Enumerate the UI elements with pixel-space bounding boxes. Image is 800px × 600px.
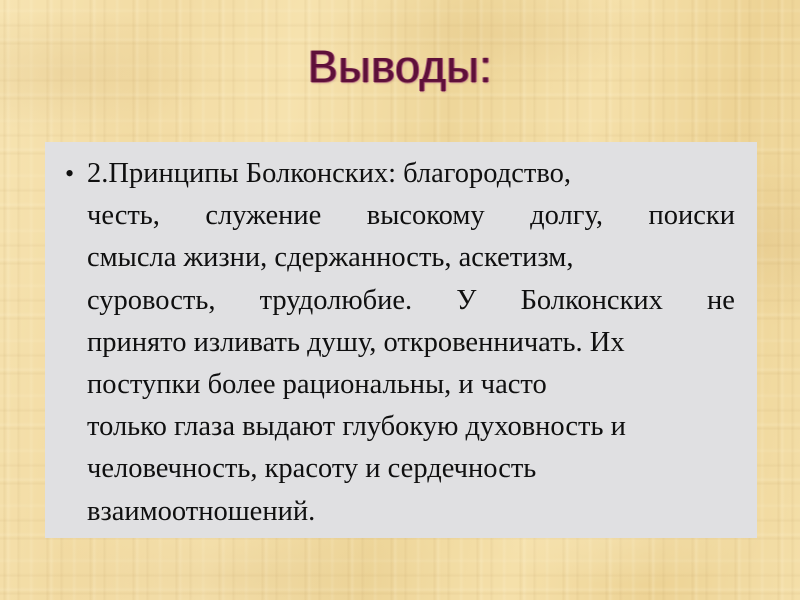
text-word: поиски	[648, 195, 735, 237]
text-line: честь,служениевысокомудолгу,поиски	[87, 195, 735, 237]
slide-title: Выводы:	[0, 42, 800, 92]
text-word: Болконских	[521, 280, 663, 322]
text-line: человечность, красоту и сердечность	[87, 448, 735, 490]
text-word: честь,	[87, 195, 160, 237]
content-panel: • 2.Принципы Болконских: благородство,че…	[45, 142, 757, 538]
text-word: трудолюбие.	[260, 280, 413, 322]
text-line: принято изливать душу, откровенничать. И…	[87, 322, 735, 364]
text-word: У	[456, 280, 476, 322]
text-line: только глаза выдают глубокую духовность …	[87, 406, 735, 448]
text-word: служение	[205, 195, 321, 237]
text-word: не	[707, 280, 735, 322]
text-line: 2.Принципы Болконских: благородство,	[87, 153, 735, 195]
list-item: • 2.Принципы Болконских: благородство,че…	[56, 153, 735, 533]
bullet-point-icon: •	[65, 153, 79, 195]
text-word: высокому	[367, 195, 485, 237]
text-line: смысла жизни, сдержанность, аскетизм,	[87, 237, 735, 279]
text-word: долгу,	[530, 195, 603, 237]
bullet-text-block: 2.Принципы Болконских: благородство,чест…	[87, 153, 735, 533]
text-line: поступки более рациональны, и часто	[87, 364, 735, 406]
text-line: суровость,трудолюбие.УБолконскихне	[87, 280, 735, 322]
text-line: взаимоотношений.	[87, 491, 735, 533]
slide-root: Выводы: • 2.Принципы Болконских: благоро…	[0, 0, 800, 600]
text-word: суровость,	[87, 280, 215, 322]
